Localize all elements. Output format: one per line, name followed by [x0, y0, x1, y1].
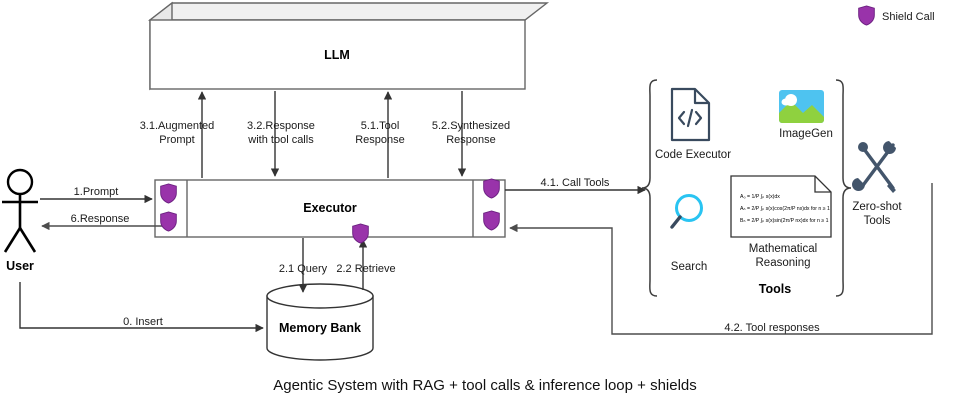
legend: Shield Call [859, 6, 935, 25]
shield-executor-out-response-icon[interactable] [161, 212, 177, 231]
formula-document-icon: A₀ = 1/P ∫ₚ s(x)dx Aₙ = 2/P ∫ₚ s(x)cos(2… [731, 176, 831, 237]
memory-bank-node[interactable]: Memory Bank [267, 284, 373, 360]
edge-call-tools: 4.1. Call Tools [505, 177, 645, 190]
svg-text:Bₙ = 2/P ∫ₚ s(x)sin(2π/P nx)dx: Bₙ = 2/P ∫ₚ s(x)sin(2π/P nx)dx for n ≥ 1 [740, 218, 829, 224]
edge-response-with-tool-calls: 3.2.Response with tool calls [247, 91, 315, 176]
memory-bank-top-ellipse [267, 284, 373, 308]
edge-response-label: 6.Response [71, 213, 130, 225]
tools-group-label: Tools [759, 282, 791, 296]
tool-code-executor-label: Code Executor [655, 149, 731, 161]
tools-right-brace [836, 80, 851, 296]
tool-imagegen[interactable]: ImageGen [779, 90, 833, 140]
wrench-head-bottom [852, 178, 865, 191]
screwdriver-handle [858, 142, 868, 152]
user-head [8, 170, 32, 194]
edge-synthesized-response-label-line2: Response [446, 134, 496, 146]
user-actor[interactable]: User [2, 170, 38, 273]
executor-node[interactable]: Executor [155, 180, 505, 237]
llm-box-top-face [150, 3, 547, 20]
tool-zero-shot-tools-label-line1: Zero-shot [852, 201, 902, 213]
tool-zero-shot-tools[interactable]: Zero-shot Tools [852, 141, 902, 227]
crossed-tools-icon [852, 141, 896, 193]
wrench-head-top [883, 141, 896, 154]
edge-synthesized-response: 5.2.Synthesized Response [432, 91, 510, 176]
image-cloud-left [782, 99, 791, 106]
edge-tool-response: 5.1.Tool Response [355, 92, 405, 178]
tool-imagegen-label: ImageGen [779, 128, 833, 140]
executor-label: Executor [303, 201, 357, 215]
edge-synthesized-response-label-line1: 5.2.Synthesized [432, 120, 510, 132]
edge-augmented-prompt: 3.1.Augmented Prompt [140, 92, 215, 178]
agentic-system-diagram: LLM Executor Memory Bank User 1.Prompt 6… [0, 0, 970, 411]
edge-call-tools-label: 4.1. Call Tools [541, 177, 610, 189]
memory-bank-label: Memory Bank [279, 321, 361, 335]
shield-executor-tool-responses-icon[interactable] [484, 211, 500, 230]
edge-augmented-prompt-label-line1: 3.1.Augmented [140, 120, 215, 132]
llm-node[interactable]: LLM [150, 3, 547, 89]
code-document-icon [672, 89, 709, 140]
user-right-leg [20, 228, 35, 252]
edge-retrieve: 2.2 Retrieve [336, 240, 395, 290]
edge-query-label: 2.1 Query [279, 263, 328, 275]
edge-prompt: 1.Prompt [40, 186, 152, 199]
magnifier-handle [672, 217, 680, 227]
user-left-leg [5, 228, 20, 252]
tool-mathematical-reasoning-label-line2: Reasoning [756, 257, 811, 269]
tool-mathematical-reasoning[interactable]: A₀ = 1/P ∫ₚ s(x)dx Aₙ = 2/P ∫ₚ s(x)cos(2… [731, 176, 831, 269]
svg-text:A₀ = 1/P ∫ₚ s(x)dx: A₀ = 1/P ∫ₚ s(x)dx [740, 194, 780, 200]
user-label: User [6, 259, 34, 273]
tool-search-label: Search [671, 261, 707, 273]
image-icon [779, 90, 824, 123]
edge-response-with-tool-calls-label-line2: with tool calls [247, 134, 314, 146]
tool-zero-shot-tools-label-line2: Tools [864, 215, 891, 227]
tool-search[interactable]: Search [671, 196, 707, 274]
edge-retrieve-label: 2.2 Retrieve [336, 263, 395, 275]
edge-tool-responses-label: 4.2. Tool responses [724, 322, 820, 334]
svg-text:Aₙ = 2/P ∫ₚ s(x)cos(2π/P nx)dx: Aₙ = 2/P ∫ₚ s(x)cos(2π/P nx)dx for n ≥ 1 [740, 206, 830, 212]
legend-label: Shield Call [882, 11, 935, 23]
llm-label: LLM [324, 48, 350, 62]
diagram-caption: Agentic System with RAG + tool calls & i… [273, 377, 697, 394]
edge-insert-label: 0. Insert [123, 316, 163, 328]
shield-executor-call-tools-icon[interactable] [484, 179, 500, 198]
tool-mathematical-reasoning-label-line1: Mathematical [749, 243, 817, 255]
edge-augmented-prompt-label-line2: Prompt [159, 134, 194, 146]
legend-shield-icon [859, 6, 875, 25]
edge-tool-response-label-line2: Response [355, 134, 405, 146]
shield-executor-in-prompt-icon[interactable] [161, 184, 177, 203]
tool-code-executor[interactable]: Code Executor [655, 89, 731, 161]
edge-prompt-label: 1.Prompt [74, 186, 119, 198]
edge-tool-response-label-line1: 5.1.Tool [361, 120, 400, 132]
edge-insert: 0. Insert [20, 282, 263, 328]
magnifier-icon [672, 196, 702, 228]
diagram-root: LLM Executor Memory Bank User 1.Prompt 6… [0, 0, 970, 411]
edge-response-with-tool-calls-label-line1: 3.2.Response [247, 120, 315, 132]
tools-left-brace [642, 80, 657, 296]
edge-response: 6.Response [42, 213, 170, 226]
shield-executor-memory-icon[interactable] [353, 224, 369, 243]
